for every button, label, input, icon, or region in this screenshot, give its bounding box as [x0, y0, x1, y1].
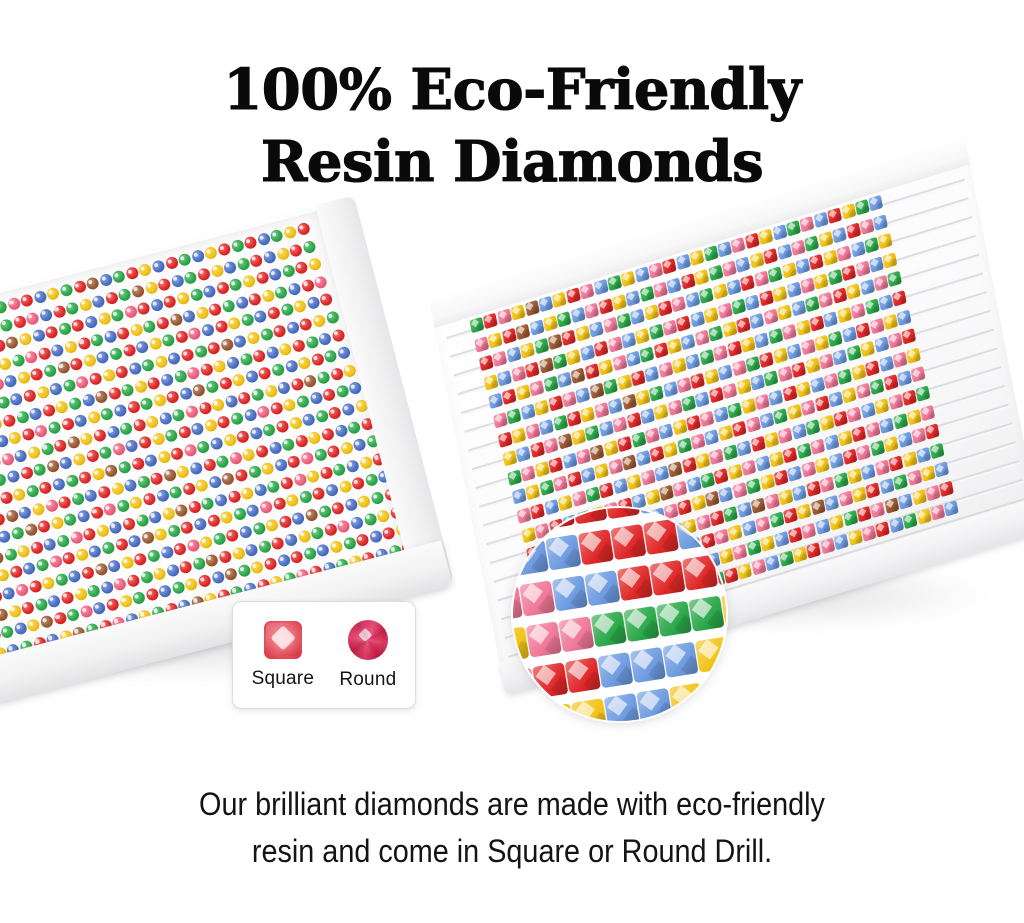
round-drill — [11, 526, 26, 541]
square-drill — [786, 281, 801, 298]
round-drill — [0, 452, 15, 467]
square-drill — [911, 428, 926, 445]
magnified-square-drill — [675, 513, 711, 549]
square-drill — [842, 387, 857, 404]
square-drill — [539, 357, 554, 374]
round-drill — [3, 374, 18, 389]
round-drill — [317, 504, 332, 519]
square-drill — [838, 430, 853, 447]
square-drill — [793, 546, 808, 563]
round-drill — [224, 394, 239, 409]
round-drill — [289, 243, 304, 258]
round-drill — [193, 517, 208, 532]
round-drill — [195, 305, 210, 320]
round-drill — [164, 256, 179, 271]
round-drill — [329, 367, 344, 382]
square-drill — [649, 323, 664, 340]
round-drill — [130, 457, 145, 472]
round-drill — [302, 239, 317, 254]
square-drill — [888, 394, 903, 411]
round-drill — [180, 521, 195, 536]
square-drill — [594, 463, 609, 480]
round-drill — [148, 337, 163, 352]
round-drill — [225, 528, 240, 543]
square-drill — [676, 315, 691, 332]
square-drill — [866, 482, 881, 499]
round-drill — [227, 316, 242, 331]
round-drill — [252, 521, 267, 536]
round-drill — [8, 431, 23, 446]
square-drill — [539, 480, 554, 497]
square-drill — [823, 311, 838, 328]
round-drill — [328, 406, 343, 421]
square-drill — [696, 453, 711, 470]
square-drill — [631, 370, 646, 387]
magnified-square-drill — [597, 651, 633, 687]
round-drill — [271, 536, 286, 551]
round-drill — [253, 483, 268, 498]
square-drill — [685, 292, 700, 309]
square-drill — [805, 296, 820, 313]
square-drill — [737, 501, 752, 518]
square-drill — [815, 396, 830, 413]
square-drill — [566, 287, 581, 304]
square-drill — [736, 379, 751, 396]
square-drill — [557, 372, 572, 389]
round-drill — [151, 432, 166, 447]
square-drill — [907, 408, 922, 425]
square-drill — [847, 406, 862, 423]
round-drill — [169, 312, 184, 327]
square-drill — [699, 349, 714, 366]
round-drill — [135, 340, 150, 355]
square-drill — [842, 326, 857, 343]
round-drill — [22, 389, 37, 404]
round-drill — [223, 260, 238, 275]
round-drill — [18, 505, 33, 520]
round-drill — [310, 352, 325, 367]
square-drill — [562, 452, 577, 469]
square-drill — [613, 416, 628, 433]
round-drill — [120, 555, 135, 570]
round-drill — [207, 341, 222, 356]
square-drill — [728, 525, 743, 542]
round-drill — [0, 318, 14, 333]
round-drill — [144, 453, 159, 468]
square-drill — [852, 487, 867, 504]
round-drill — [9, 565, 24, 580]
round-drill — [278, 342, 293, 357]
round-drill — [171, 408, 186, 423]
round-drill — [250, 387, 265, 402]
round-drill — [262, 250, 277, 265]
round-drill — [46, 286, 61, 301]
round-drill — [180, 348, 195, 363]
square-drill — [930, 504, 945, 521]
magnified-square-drill — [526, 621, 562, 657]
round-drill — [305, 335, 320, 350]
round-drill — [17, 371, 32, 386]
round-drill — [34, 424, 49, 439]
square-drill — [708, 264, 723, 281]
square-drill — [681, 273, 696, 290]
round-drill — [331, 328, 346, 343]
square-drill — [672, 419, 687, 436]
round-drill — [307, 430, 322, 445]
square-drill — [855, 199, 870, 216]
round-drill — [128, 361, 143, 376]
round-drill — [315, 409, 330, 424]
round-drill — [63, 512, 78, 527]
round-drill — [73, 587, 88, 602]
round-drill — [300, 278, 315, 293]
round-drill — [202, 284, 217, 299]
round-drill — [235, 295, 250, 310]
square-drill — [870, 379, 885, 396]
caption-line-1: Our brilliant diamonds are made with eco… — [51, 781, 973, 828]
square-drill — [764, 432, 779, 449]
square-drill — [502, 327, 517, 344]
square-drill — [553, 476, 568, 493]
square-drill — [673, 480, 688, 497]
round-drill — [145, 414, 160, 429]
square-drill — [851, 364, 866, 381]
round-drill — [326, 444, 341, 459]
round-drill — [67, 569, 82, 584]
square-drill — [557, 311, 572, 328]
square-drill — [848, 529, 863, 546]
round-drill — [173, 369, 188, 384]
square-drill — [843, 510, 858, 527]
square-drill — [717, 241, 732, 258]
round-drill — [48, 555, 63, 570]
square-drill — [635, 328, 650, 345]
round-drill — [321, 427, 336, 442]
square-drill — [786, 220, 801, 237]
square-drill — [846, 222, 861, 239]
square-drill — [521, 404, 536, 421]
magnified-square-drill — [545, 534, 581, 570]
square-drill — [507, 469, 522, 486]
round-drill — [214, 320, 229, 335]
square-drill — [722, 321, 737, 338]
round-drill — [319, 466, 334, 481]
square-drill — [782, 262, 797, 279]
round-drill — [197, 267, 212, 282]
square-drill — [731, 298, 746, 315]
square-drill — [700, 472, 715, 489]
round-drill — [59, 283, 74, 298]
square-drill — [570, 306, 585, 323]
square-drill — [544, 437, 559, 454]
round-drill — [2, 586, 17, 601]
round-drill — [204, 246, 219, 261]
round-drill — [72, 280, 87, 295]
square-drill — [898, 493, 913, 510]
round-drill — [267, 306, 282, 321]
square-drill — [797, 442, 812, 459]
square-drill — [511, 304, 526, 321]
round-drill — [84, 315, 99, 330]
square-drill — [801, 461, 816, 478]
square-drill — [736, 317, 751, 334]
square-drill — [581, 467, 596, 484]
square-drill — [723, 444, 738, 461]
round-drill — [25, 484, 40, 499]
square-drill — [778, 489, 793, 506]
round-drill — [350, 515, 365, 530]
square-drill — [856, 444, 871, 461]
square-drill — [502, 389, 517, 406]
round-drill — [161, 333, 176, 348]
round-drill — [259, 327, 274, 342]
square-drill — [677, 438, 692, 455]
square-drill — [804, 235, 819, 252]
square-drill — [815, 457, 830, 474]
round-drill — [167, 351, 182, 366]
round-drill — [300, 451, 315, 466]
square-drill — [813, 212, 828, 229]
round-drill — [167, 524, 182, 539]
round-drill — [132, 591, 147, 606]
round-drill — [44, 325, 59, 340]
square-drill — [838, 491, 853, 508]
round-drill — [316, 543, 331, 558]
round-drill — [217, 415, 232, 430]
square-drill — [520, 342, 535, 359]
square-drill — [755, 455, 770, 472]
round-drill — [142, 319, 157, 334]
round-drill — [160, 545, 175, 560]
square-drill — [742, 459, 757, 476]
round-drill — [158, 584, 173, 599]
square-drill — [709, 387, 724, 404]
round-drill — [220, 510, 235, 525]
square-drill — [608, 459, 623, 476]
round-drill — [60, 417, 75, 432]
product-infographic: 100% Eco-Friendly Resin Diamonds Square — [0, 0, 1024, 923]
round-drill — [0, 607, 9, 622]
round-drill — [62, 378, 77, 393]
square-drill — [778, 427, 793, 444]
square-drill — [694, 268, 709, 285]
square-drill — [612, 355, 627, 372]
square-drill — [493, 412, 508, 429]
magnified-square-drill — [558, 616, 594, 652]
round-drill — [63, 339, 78, 354]
square-drill — [635, 389, 650, 406]
square-drill — [718, 302, 733, 319]
round-drill — [110, 308, 125, 323]
square-drill — [681, 334, 696, 351]
square-drill — [769, 389, 784, 406]
round-drill — [146, 549, 161, 564]
square-drill — [841, 264, 856, 281]
round-drill — [90, 333, 105, 348]
square-drill — [837, 368, 852, 385]
round-drill — [283, 398, 298, 413]
square-drill — [837, 307, 852, 324]
square-drill — [745, 233, 760, 250]
square-drill — [608, 397, 623, 414]
round-drill — [52, 477, 67, 492]
square-drill — [576, 387, 591, 404]
round-drill — [261, 288, 276, 303]
round-drill — [33, 290, 48, 305]
square-drill — [944, 500, 959, 517]
round-drill — [104, 290, 119, 305]
square-drill — [869, 195, 884, 212]
square-drill — [828, 330, 843, 347]
magnified-square-drill — [604, 508, 640, 519]
round-drill — [0, 529, 12, 544]
round-drill — [182, 482, 197, 497]
round-drill — [369, 530, 384, 545]
round-drill — [224, 567, 239, 582]
square-drill — [498, 431, 513, 448]
square-drill — [644, 304, 659, 321]
square-drill — [635, 266, 650, 283]
square-drill — [829, 514, 844, 531]
round-drill — [247, 465, 262, 480]
round-drill — [239, 352, 254, 367]
round-drill — [28, 406, 43, 421]
square-drill — [833, 410, 848, 427]
square-drill — [827, 207, 842, 224]
square-drill — [733, 544, 748, 561]
square-drill — [773, 347, 788, 364]
round-drill — [31, 329, 46, 344]
square-drill — [920, 404, 935, 421]
round-drill — [161, 506, 176, 521]
round-drill — [148, 510, 163, 525]
round-drill — [5, 335, 20, 350]
magnified-square-drill — [695, 636, 726, 672]
round-drill — [332, 462, 347, 477]
round-drill — [112, 442, 127, 457]
round-drill — [299, 490, 314, 505]
round-drill — [150, 298, 165, 313]
square-drill — [626, 412, 641, 429]
round-drill — [252, 348, 267, 363]
square-drill — [572, 490, 587, 507]
round-drill — [127, 534, 142, 549]
round-drill — [91, 467, 106, 482]
square-drill — [893, 413, 908, 430]
square-drill — [907, 470, 922, 487]
round-drill — [123, 305, 138, 320]
product-caption: Our brilliant diamonds are made with eco… — [51, 781, 973, 875]
square-drill — [663, 381, 678, 398]
round-drill — [287, 282, 302, 297]
round-drill — [343, 363, 358, 378]
round-drill — [163, 468, 178, 483]
square-drill — [607, 336, 622, 353]
round-drill — [123, 478, 138, 493]
round-drill — [15, 583, 30, 598]
round-drill — [270, 229, 285, 244]
round-drill — [176, 291, 191, 306]
round-drill — [157, 450, 172, 465]
round-drill — [211, 397, 226, 412]
magnified-square-drill — [584, 569, 620, 605]
square-drill — [783, 508, 798, 525]
round-drill — [116, 499, 131, 514]
square-drill — [824, 434, 839, 451]
round-drill — [285, 493, 300, 508]
round-drill — [344, 498, 359, 513]
round-drill — [257, 539, 272, 554]
round-drill — [284, 359, 299, 374]
round-drill — [237, 564, 252, 579]
round-drill — [210, 263, 225, 278]
round-drill — [138, 263, 153, 278]
round-drill — [24, 350, 39, 365]
square-drill — [870, 440, 885, 457]
round-drill — [129, 322, 144, 337]
magnified-square-drill — [578, 528, 614, 564]
square-drill — [888, 332, 903, 349]
round-drill — [325, 310, 340, 325]
square-drill — [911, 366, 926, 383]
square-drill — [828, 391, 843, 408]
round-drill — [43, 364, 58, 379]
square-drill — [791, 239, 806, 256]
square-drill — [695, 330, 710, 347]
round-drill — [308, 257, 323, 272]
round-drill — [294, 433, 309, 448]
legend-item-square[interactable]: Square — [252, 621, 314, 690]
square-drill — [772, 224, 787, 241]
round-drill — [183, 270, 198, 285]
round-gem-icon — [348, 620, 388, 660]
square-drill — [791, 300, 806, 317]
square-drill — [613, 478, 628, 495]
round-drill — [65, 301, 80, 316]
round-drill — [0, 357, 12, 372]
square-drill — [787, 343, 802, 360]
round-drill — [20, 293, 35, 308]
round-drill — [341, 402, 356, 417]
square-drill — [875, 521, 890, 538]
square-drill — [534, 338, 549, 355]
headline-line-1: 100% Eco-Friendly — [0, 54, 1024, 126]
round-drill — [85, 449, 100, 464]
round-drill — [68, 396, 83, 411]
square-drill — [740, 275, 755, 292]
magnified-closeup-circle — [513, 508, 726, 721]
round-drill — [78, 470, 93, 485]
square-drill — [814, 273, 829, 290]
round-drill — [268, 440, 283, 455]
square-drill — [722, 260, 737, 277]
round-drill — [97, 485, 112, 500]
square-drill — [708, 326, 723, 343]
round-drill — [195, 478, 210, 493]
square-drill — [777, 305, 792, 322]
round-drill — [353, 438, 368, 453]
round-drill — [250, 560, 265, 575]
round-drill — [269, 401, 284, 416]
round-drill — [228, 451, 243, 466]
round-drill — [81, 566, 96, 581]
round-drill — [171, 581, 186, 596]
legend-item-round[interactable]: Round — [339, 620, 396, 691]
round-drill — [53, 438, 68, 453]
square-drill — [732, 421, 747, 438]
round-drill — [196, 440, 211, 455]
round-drill — [178, 252, 193, 267]
